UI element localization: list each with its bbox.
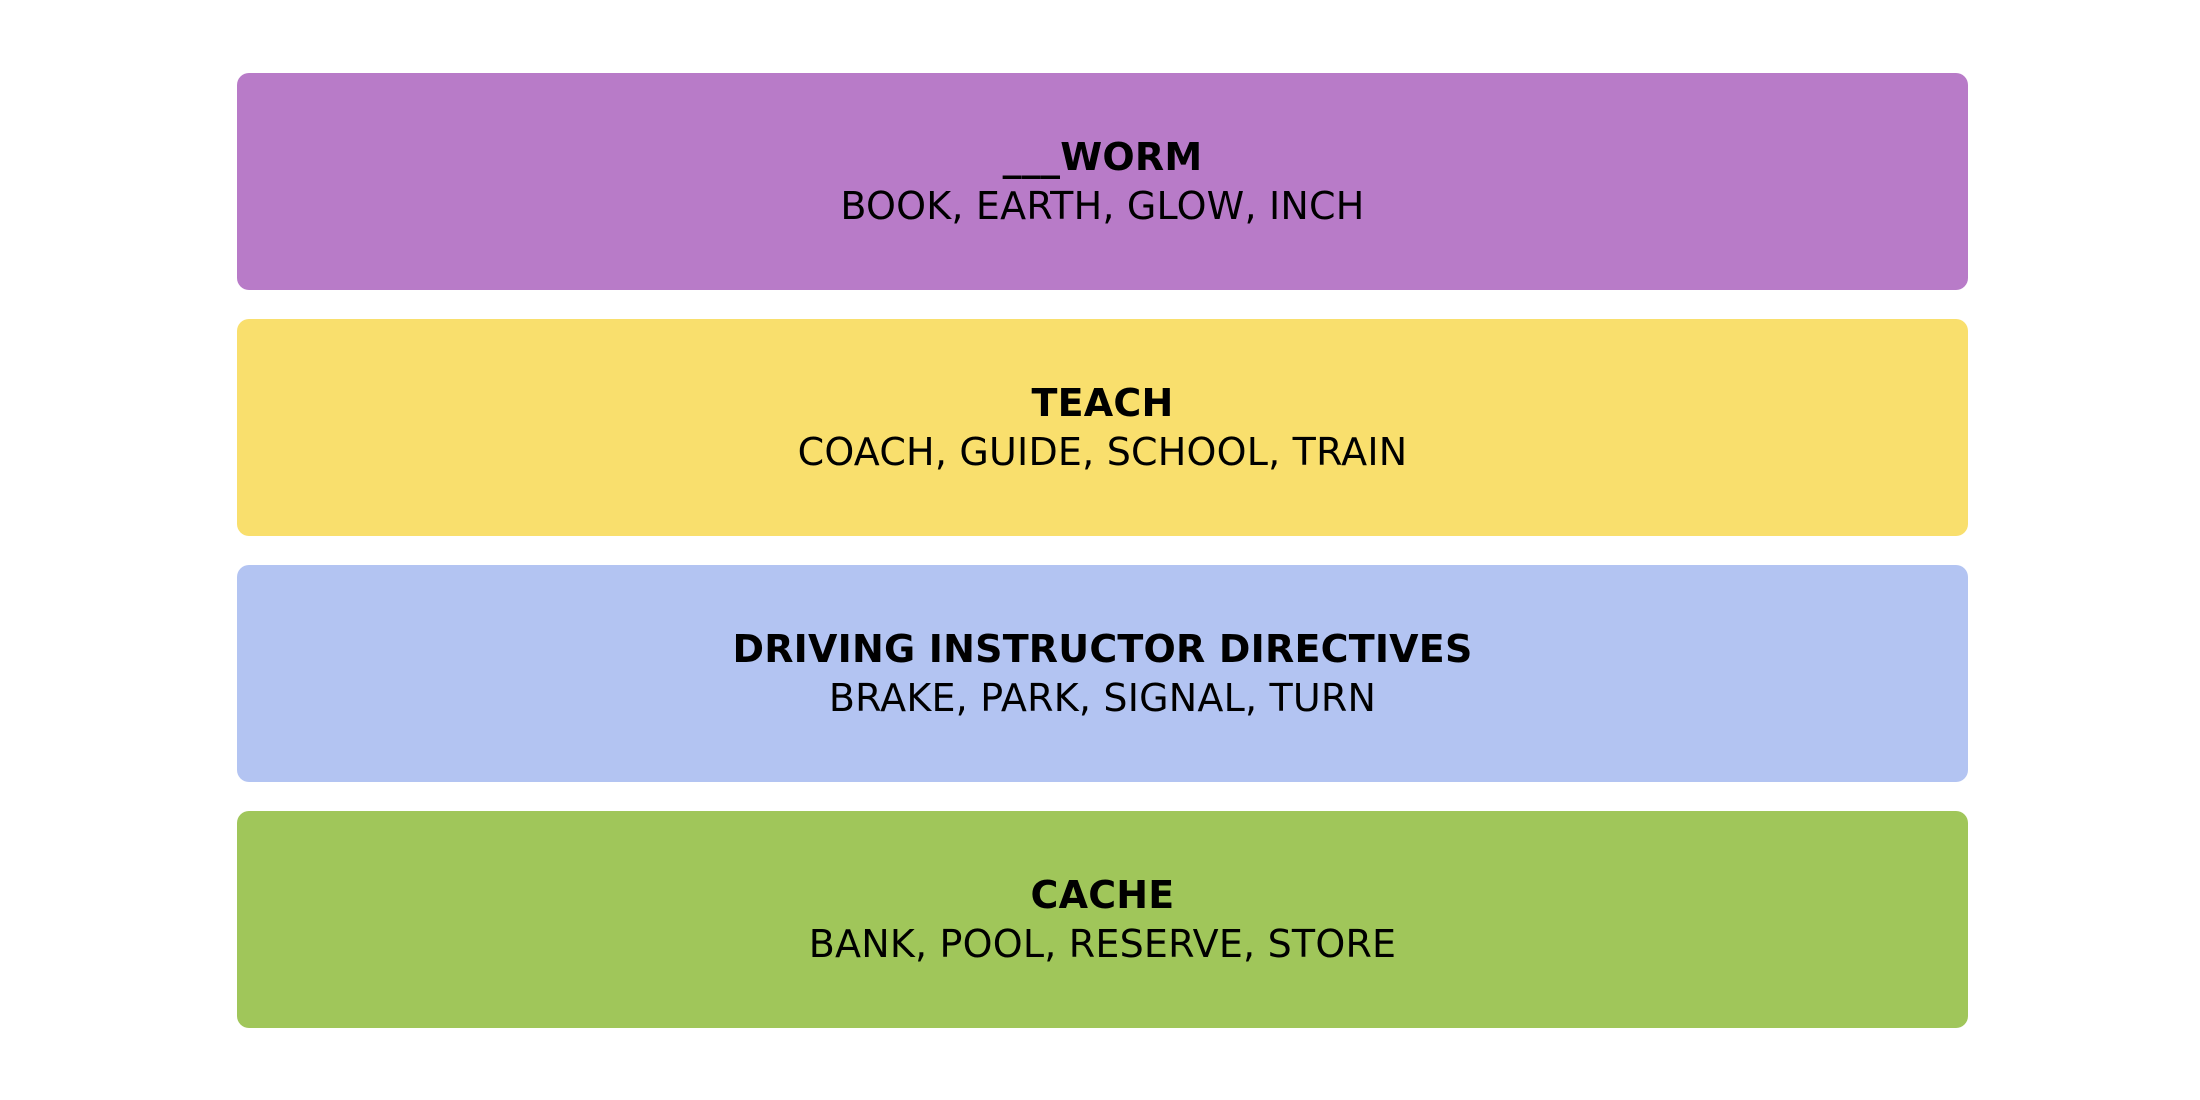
group-members: BRAKE, PARK, SIGNAL, TURN <box>829 674 1376 723</box>
group-members: COACH, GUIDE, SCHOOL, TRAIN <box>798 428 1408 477</box>
group-title: ___WORM <box>1003 133 1203 182</box>
group-title: TEACH <box>1032 379 1174 428</box>
group-members: BANK, POOL, RESERVE, STORE <box>809 920 1397 969</box>
group-card-yellow[interactable]: TEACH COACH, GUIDE, SCHOOL, TRAIN <box>237 319 1968 536</box>
group-card-purple[interactable]: ___WORM BOOK, EARTH, GLOW, INCH <box>237 73 1968 290</box>
group-card-green[interactable]: CACHE BANK, POOL, RESERVE, STORE <box>237 811 1968 1028</box>
group-title: DRIVING INSTRUCTOR DIRECTIVES <box>732 625 1472 674</box>
group-title: CACHE <box>1031 871 1175 920</box>
group-card-blue[interactable]: DRIVING INSTRUCTOR DIRECTIVES BRAKE, PAR… <box>237 565 1968 782</box>
connections-solved-board: ___WORM BOOK, EARTH, GLOW, INCH TEACH CO… <box>237 73 1968 1028</box>
group-members: BOOK, EARTH, GLOW, INCH <box>840 182 1364 231</box>
